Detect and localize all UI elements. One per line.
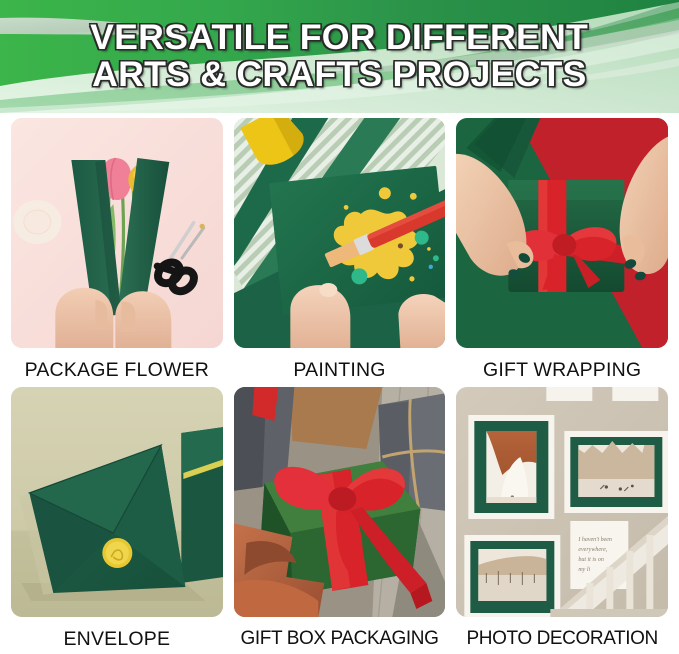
caption-gift-wrapping: GIFT WRAPPING: [483, 359, 641, 382]
image-gift-box-packaging: [234, 387, 446, 617]
grid-cell-envelope: ENVELOPE: [11, 387, 223, 654]
grid-cell-photo-decoration: I haven't been everywhere, but it is on …: [456, 387, 668, 654]
svg-text:everywhere,: everywhere,: [579, 547, 608, 553]
caption-envelope: ENVELOPE: [63, 628, 170, 651]
caption-photo-decoration: PHOTO DECORATION: [466, 628, 657, 650]
image-package-flower: [11, 118, 223, 348]
gift-wrapping-illustration: [456, 118, 668, 348]
image-painting: [234, 118, 446, 348]
image-gift-wrapping: [456, 118, 668, 348]
svg-text:I haven't been: I haven't been: [578, 537, 613, 543]
banner-background-graphic: [0, 0, 679, 113]
envelope-illustration: [11, 387, 223, 617]
painting-illustration: [234, 118, 446, 348]
caption-gift-box-packaging: GIFT BOX PACKAGING: [241, 628, 439, 650]
grid-cell-package-flower: PACKAGE FLOWER: [11, 118, 223, 385]
image-envelope: [11, 387, 223, 617]
feature-grid: PACKAGE FLOWER: [0, 113, 679, 654]
header-banner: VERSATILE FOR DIFFERENT ARTS & CRAFTS PR…: [0, 0, 679, 113]
photo-decoration-illustration: I haven't been everywhere, but it is on …: [456, 387, 668, 617]
svg-text:but it is on: but it is on: [579, 557, 605, 563]
grid-cell-gift-box-packaging: GIFT BOX PACKAGING: [234, 387, 446, 654]
grid-cell-painting: PAINTING: [234, 118, 446, 385]
caption-package-flower: PACKAGE FLOWER: [25, 359, 209, 382]
grid-cell-gift-wrapping: GIFT WRAPPING: [456, 118, 668, 385]
svg-text:my li: my li: [579, 567, 591, 573]
caption-painting: PAINTING: [293, 359, 385, 382]
package-flower-illustration: [11, 118, 223, 348]
gift-box-packaging-illustration: [234, 387, 446, 617]
image-photo-decoration: I haven't been everywhere, but it is on …: [456, 387, 668, 617]
